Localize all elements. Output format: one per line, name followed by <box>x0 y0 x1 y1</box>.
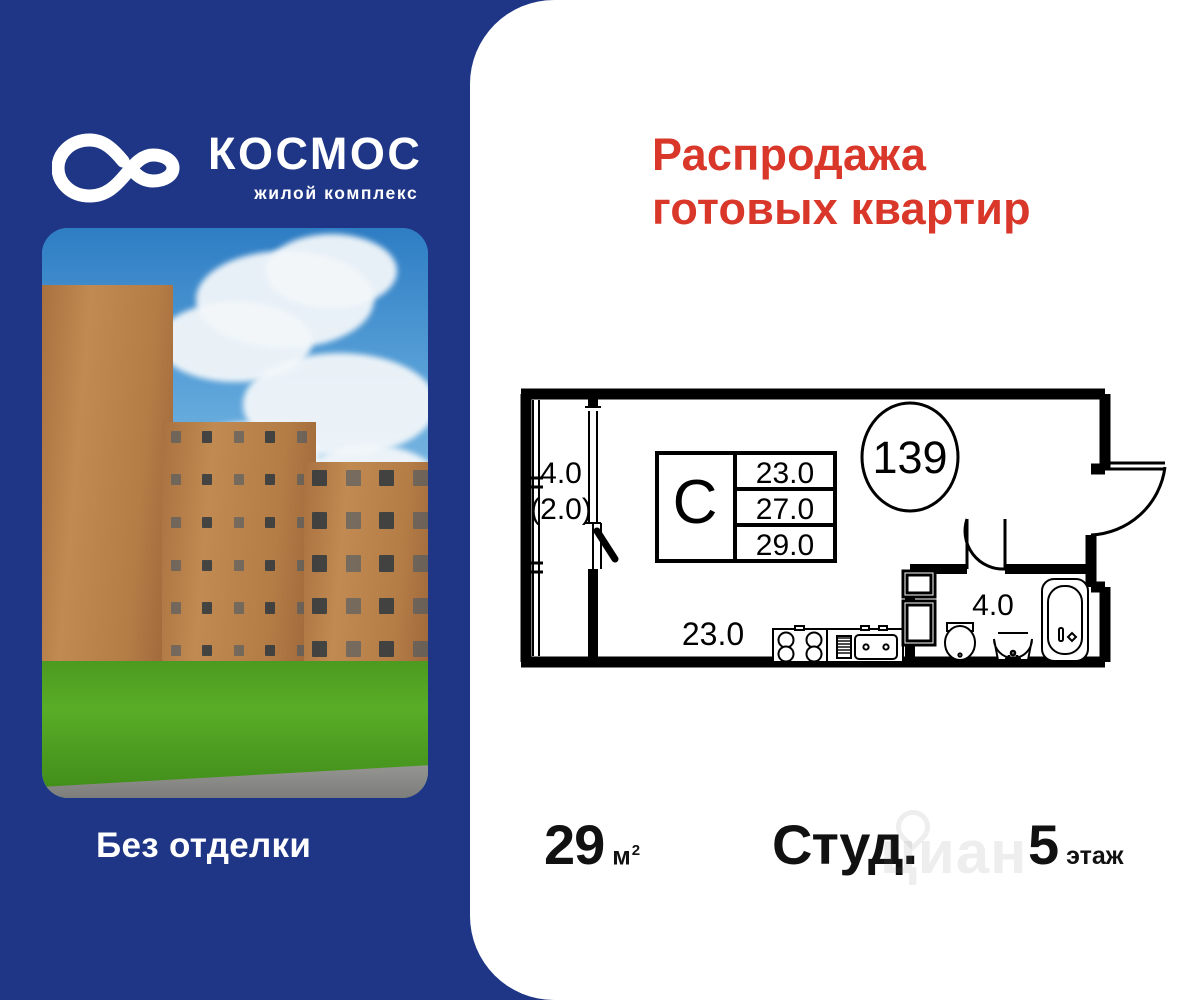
bathroom-area: 4.0 <box>972 589 1014 622</box>
spec-floor-unit: этаж <box>1066 842 1123 871</box>
type-area-3: 29.0 <box>756 529 814 562</box>
spec-floor-value: 5 <box>1028 812 1058 877</box>
building-mid <box>162 422 316 661</box>
cloud-icon <box>266 234 397 308</box>
headline-line-1: Распродажа <box>652 128 1092 182</box>
brand-name: КОСМОС <box>208 131 422 177</box>
building-low <box>304 462 428 662</box>
balcony-area-coef: (2.0) <box>530 493 592 526</box>
apartment-type-letter: С <box>673 468 718 537</box>
brand-logo: КОСМОС жилой комплекс <box>52 120 452 215</box>
spec-floor: 5 этаж <box>1028 812 1124 877</box>
specs-row: 29 м2 Студ. 5 этаж <box>520 812 1180 892</box>
finish-label: Без отделки <box>96 826 311 866</box>
spec-area-unit: м2 <box>612 842 640 871</box>
advertisement-card: КОСМОС жилой комплекс <box>0 0 1200 1000</box>
brand-subtitle: жилой комплекс <box>208 183 422 204</box>
building-photo <box>42 228 428 798</box>
infinity-icon <box>52 130 188 206</box>
building-tower <box>42 285 173 661</box>
balcony-area: 4.0 <box>540 457 582 490</box>
living-area: 23.0 <box>682 616 744 652</box>
apartment-number: 139 <box>872 432 947 483</box>
spec-area-value: 29 <box>544 812 604 877</box>
page-title: Распродажа готовых квартир <box>652 128 1092 236</box>
floor-plan: 4.0 (2.0) С 23.0 27.0 29.0 23.0 139 4.0 <box>505 383 1175 673</box>
type-area-2: 27.0 <box>756 493 814 526</box>
spec-area: 29 м2 <box>544 812 640 877</box>
type-area-1: 23.0 <box>756 457 814 490</box>
headline-line-2: готовых квартир <box>652 182 1092 236</box>
